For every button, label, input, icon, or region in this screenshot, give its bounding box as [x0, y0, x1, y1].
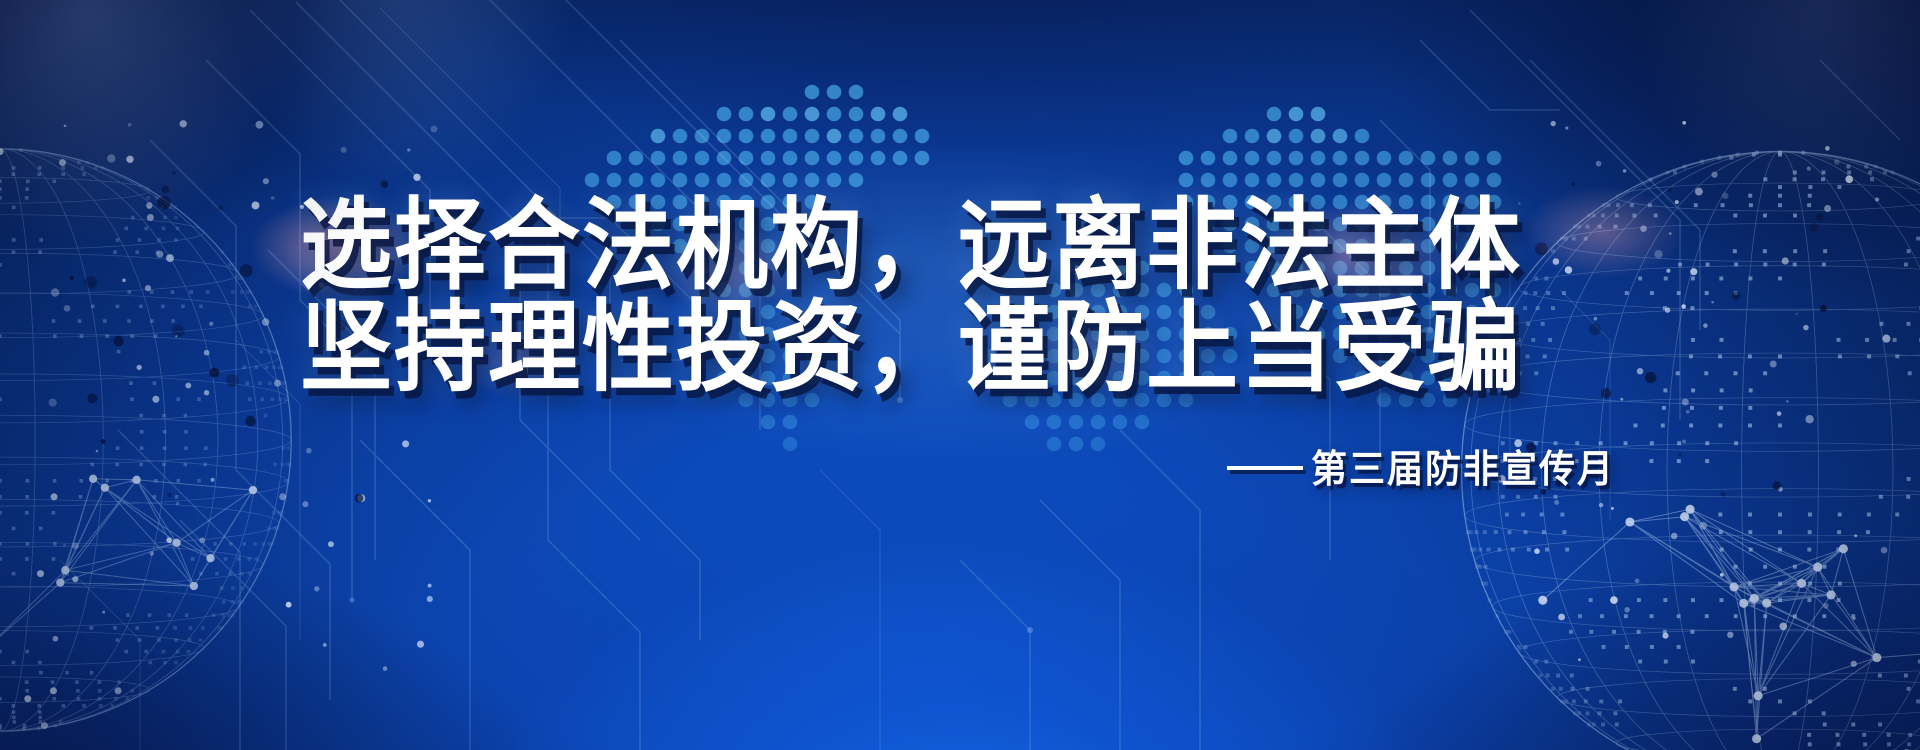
promotional-banner: 选择合法机构，远离非法主体 坚持理性投资，谨防上当受骗 第三届防非宣传月 [0, 0, 1920, 750]
vignette-overlay [0, 0, 1920, 750]
